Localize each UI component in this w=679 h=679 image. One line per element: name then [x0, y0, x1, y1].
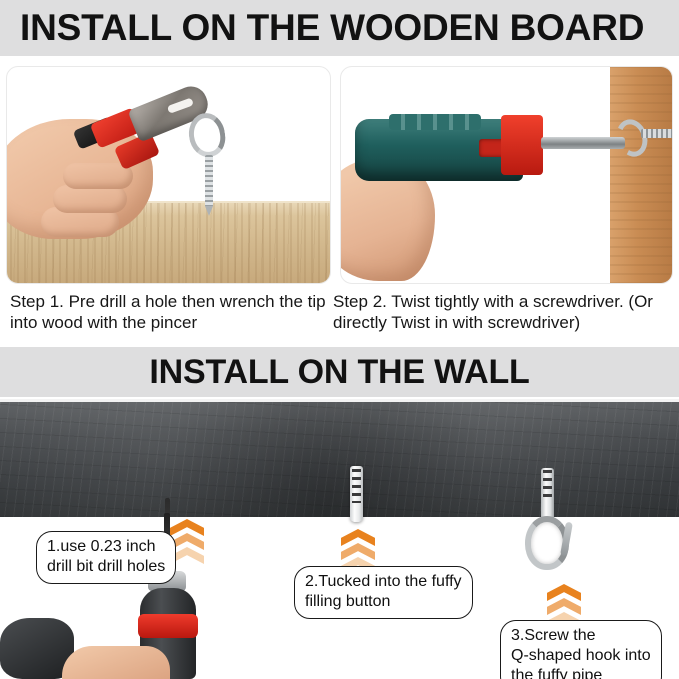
- callout-wall-step-2: 2.Tucked into the fuffy filling button: [294, 566, 473, 619]
- caption-step-2: Step 2. Twist tightly with a screwdriver…: [333, 291, 675, 333]
- callout-wall-step-3: 3.Screw the Q-shaped hook into the fuffy…: [500, 620, 662, 679]
- photo-step-2-screwdriver: [340, 66, 673, 284]
- wall-anchor-plug: [350, 466, 363, 522]
- banner-install-wooden-board: INSTALL ON THE WOODEN BOARD: [0, 0, 679, 56]
- banner-wooden-board-title: INSTALL ON THE WOODEN BOARD: [0, 7, 679, 49]
- photo-step-1-pliers: [6, 66, 331, 284]
- drill-red-collar: [138, 614, 198, 638]
- finger: [53, 185, 127, 213]
- screwdriver-bit: [541, 137, 625, 149]
- power-screwdriver-vents: [389, 114, 481, 130]
- banner-install-wall: INSTALL ON THE WALL: [0, 347, 679, 397]
- banner-wall-title: INSTALL ON THE WALL: [0, 353, 679, 392]
- wooden-post-vertical: [610, 66, 672, 284]
- hook-screw-thread: [641, 129, 673, 138]
- hook-screw-shank: [205, 155, 213, 207]
- callout-wall-step-1: 1.use 0.23 inch drill bit drill holes: [36, 531, 176, 584]
- hand-holding-drill: [62, 646, 170, 679]
- concrete-wall-background: [0, 399, 679, 517]
- power-screwdriver-chuck-collar: [501, 115, 543, 175]
- caption-step-1: Step 1. Pre drill a hole then wrench the…: [10, 291, 330, 333]
- instruction-infographic: INSTALL ON THE WOODEN BOARD Step 1. Pre …: [0, 0, 679, 679]
- hook-screw-in-wall: [541, 468, 554, 520]
